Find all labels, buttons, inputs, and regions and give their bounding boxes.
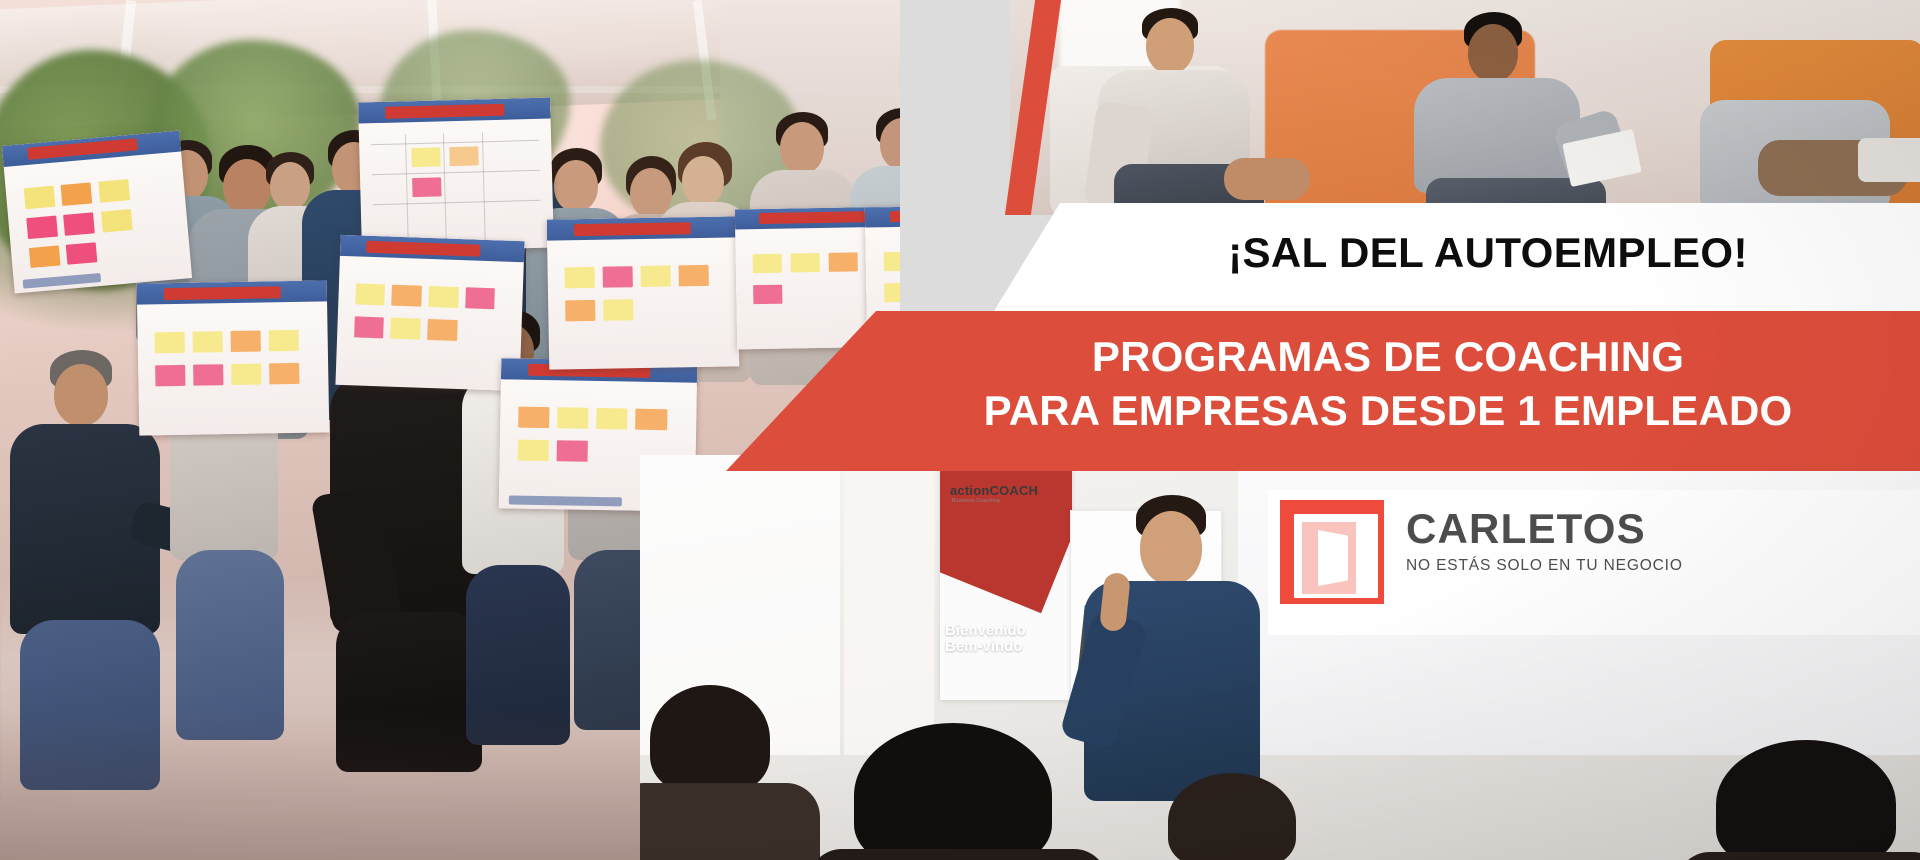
planning-board	[547, 216, 740, 369]
actioncoach-wordmark: actionCOACH	[950, 483, 1038, 498]
door-frame-icon	[1280, 500, 1384, 604]
two-men-seated-photo	[1010, 0, 1920, 215]
carletos-brand-name: CARLETOS	[1406, 508, 1683, 550]
planning-board	[137, 280, 330, 435]
headline-sal-del-autoempleo: ¡SAL DEL AUTOEMPLEO!	[1056, 229, 1920, 277]
welcome-line-pt: Bem-vindo	[945, 639, 1026, 655]
actioncoach-subtext: Business Coaching	[952, 498, 1000, 504]
welcome-text: Bienvenido Bem-vindo	[945, 623, 1026, 655]
carletos-logo-card: CARLETOS NO ESTÁS SOLO EN TU NEGOCIO	[1268, 490, 1920, 635]
planning-board	[358, 98, 554, 253]
actioncoach-rollup-banner: actionCOACH Business Coaching	[940, 465, 1072, 700]
carletos-tagline: NO ESTÁS SOLO EN TU NEGOCIO	[1406, 557, 1683, 575]
wall-panel	[844, 455, 934, 755]
promo-banner-stage: actionCOACH Business Coaching Bienvenido…	[0, 0, 1920, 860]
welcome-line-es: Bienvenido	[945, 623, 1026, 639]
red-headline-banner: PROGRAMAS DE COACHING PARA EMPRESAS DESD…	[726, 311, 1920, 471]
planning-board	[2, 131, 192, 294]
planning-board	[335, 235, 524, 391]
headline-programas-line2: PARA EMPRESAS DESDE 1 EMPLEADO	[876, 387, 1900, 435]
presenter-seminar-photo: actionCOACH Business Coaching Bienvenido…	[640, 455, 1920, 860]
white-headline-banner: ¡SAL DEL AUTOEMPLEO!	[994, 203, 1920, 311]
headline-programas-line1: PROGRAMAS DE COACHING	[876, 333, 1900, 381]
carletos-logo-text: CARLETOS NO ESTÁS SOLO EN TU NEGOCIO	[1406, 508, 1683, 575]
